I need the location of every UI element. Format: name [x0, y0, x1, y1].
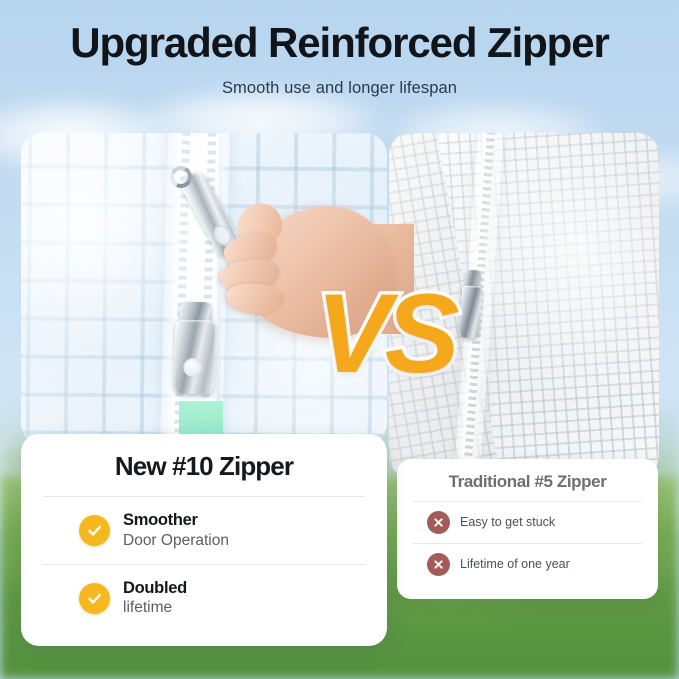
feature-text: Doubled lifetime: [123, 578, 187, 619]
list-item: Doubled lifetime: [43, 565, 365, 632]
list-item: Smoother Door Operation: [43, 497, 365, 564]
check-icon: [79, 515, 110, 546]
feature-label: Doubled: [123, 578, 187, 599]
new-feature-list: Smoother Door Operation Doubled lifetime: [43, 497, 365, 632]
feature-text: Lifetime of one year: [460, 557, 570, 573]
cross-icon: [427, 511, 450, 534]
feature-label: Easy to get stuck: [460, 515, 555, 531]
new-zipper-card: New #10 Zipper Smoother Door Operation D…: [21, 434, 387, 646]
feature-sublabel: Door Operation: [123, 531, 229, 551]
feature-text: Easy to get stuck: [460, 515, 555, 531]
list-item: Easy to get stuck: [413, 502, 642, 543]
feature-text: Smoother Door Operation: [123, 510, 229, 551]
traditional-card-title: Traditional #5 Zipper: [413, 472, 642, 492]
traditional-feature-list: Easy to get stuck Lifetime of one year: [413, 502, 642, 585]
slider-body: [459, 285, 483, 338]
traditional-zipper-card: Traditional #5 Zipper Easy to get stuck …: [397, 459, 658, 599]
feature-label: Lifetime of one year: [460, 557, 570, 573]
feature-sublabel: lifetime: [123, 598, 187, 618]
page-title: Upgraded Reinforced Zipper: [0, 22, 679, 64]
cross-icon: [427, 553, 450, 576]
list-item: Lifetime of one year: [413, 544, 642, 585]
feature-label: Smoother: [123, 510, 229, 531]
header: Upgraded Reinforced Zipper Smooth use an…: [0, 0, 679, 98]
new-card-title: New #10 Zipper: [43, 451, 365, 482]
check-icon: [79, 583, 110, 614]
vs-badge: VS: [316, 278, 453, 390]
page-subtitle: Smooth use and longer lifespan: [0, 79, 679, 98]
